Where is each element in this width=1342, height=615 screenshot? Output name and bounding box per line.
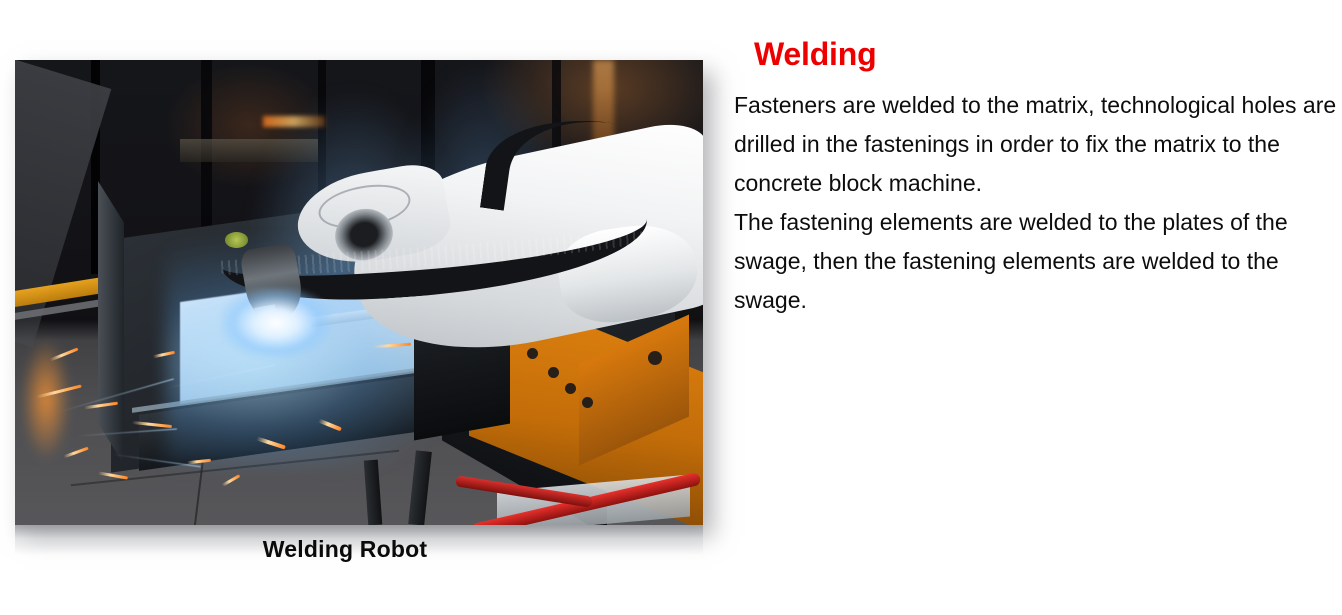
welding-table-edge [98, 181, 124, 464]
welding-arc [221, 288, 331, 358]
floor-orange-glow [22, 339, 70, 460]
frame-bolt-hole [582, 397, 593, 408]
frame-bolt-hole [648, 351, 662, 365]
torch-nozzle-marker [225, 232, 248, 248]
welding-robot-photo [15, 60, 703, 525]
frame-bolt-hole [548, 367, 559, 378]
paragraph-1: Fasteners are welded to the matrix, tech… [734, 86, 1340, 203]
section-heading: Welding [754, 36, 876, 73]
body-copy: Fasteners are welded to the matrix, tech… [734, 86, 1340, 320]
paragraph-2: The fastening elements are welded to the… [734, 203, 1340, 320]
right-panel: Welding Fasteners are welded to the matr… [730, 0, 1342, 615]
frame-bolt-hole [565, 383, 576, 394]
photo-caption: Welding Robot [15, 536, 675, 563]
left-panel: Welding Robot [0, 0, 730, 615]
